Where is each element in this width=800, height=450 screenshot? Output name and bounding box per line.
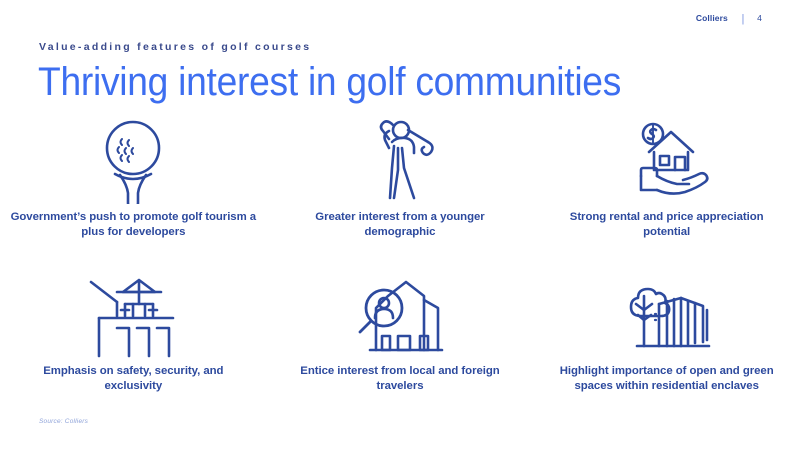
magnifier-person-buildings-icon bbox=[344, 270, 456, 358]
source-note: Source: Colliers bbox=[39, 418, 88, 425]
slide-header: Colliers | 4 bbox=[696, 13, 762, 23]
feature-item: Highlight importance of open and green s… bbox=[533, 270, 800, 428]
feature-item: Entice interest from local and foreign t… bbox=[267, 270, 534, 428]
feature-caption: Strong rental and price appreciation pot… bbox=[559, 210, 774, 240]
house-with-dollar-on-hand-icon bbox=[619, 112, 715, 204]
slide: Colliers | 4 Value-adding features of go… bbox=[0, 0, 800, 450]
gated-entrance-fence-icon bbox=[77, 270, 189, 358]
feature-item: Strong rental and price appreciation pot… bbox=[533, 112, 800, 270]
feature-item: Government’s push to promote golf touris… bbox=[0, 112, 267, 270]
brand-label: Colliers bbox=[696, 13, 728, 23]
feature-caption: Entice interest from local and foreign t… bbox=[287, 364, 512, 394]
feature-caption: Emphasis on safety, security, and exclus… bbox=[13, 364, 253, 394]
feature-caption: Greater interest from a younger demograp… bbox=[284, 210, 516, 240]
feature-grid: Government’s push to promote golf touris… bbox=[0, 112, 800, 428]
feature-item: Greater interest from a younger demograp… bbox=[267, 112, 534, 270]
header-separator: | bbox=[728, 12, 757, 25]
golfer-swinging-icon bbox=[352, 112, 448, 204]
feature-caption: Highlight importance of open and green s… bbox=[559, 364, 774, 394]
page-title: Thriving interest in golf communities bbox=[38, 59, 621, 105]
golf-ball-on-tee-icon bbox=[85, 112, 181, 204]
tree-beside-building-icon bbox=[611, 270, 723, 358]
page-number: 4 bbox=[757, 13, 762, 23]
eyebrow-text: Value-adding features of golf courses bbox=[39, 41, 311, 53]
feature-item: Emphasis on safety, security, and exclus… bbox=[0, 270, 267, 428]
feature-caption: Government’s push to promote golf touris… bbox=[7, 210, 259, 240]
